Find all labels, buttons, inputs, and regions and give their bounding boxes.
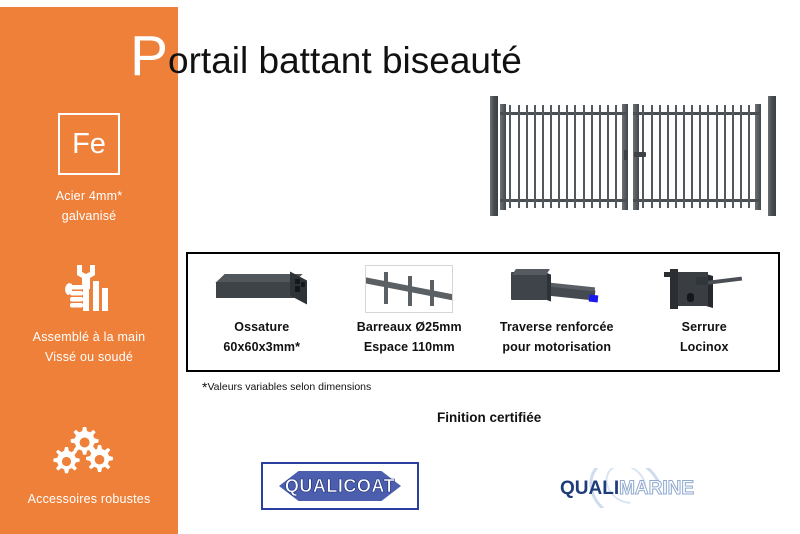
spec-ossature-line2: 60x60x3mm* (223, 340, 300, 354)
gate-leaf-right (633, 104, 761, 210)
three-gears-icon (0, 421, 178, 481)
sidebar-assembly-line1: Assemblé à la main (0, 330, 178, 344)
double-swing-gate-illustration (478, 96, 788, 216)
spec-item-traverse: Traverse renforcée pour motorisation (483, 254, 631, 370)
gate-lock-knob-icon (624, 150, 628, 160)
footnote: *Valeurs variables selon dimensions (202, 381, 371, 397)
qualimarine-text-part2: MARINE (619, 478, 694, 499)
sidebar-feature-accessories: Accessoires robustes (0, 421, 178, 506)
sidebar-material-line1: Acier 4mm* (0, 189, 178, 203)
specifications-box: Ossature 60x60x3mm* Barreaux Ø25mm Espac… (186, 252, 780, 372)
spec-item-serrure: Serrure Locinox (631, 254, 779, 370)
sidebar-material-line2: galvanisé (0, 209, 178, 223)
footnote-text: Valeurs variables selon dimensions (207, 381, 371, 393)
sidebar-feature-assembly: Assemblé à la main Vissé ou soudé (0, 259, 178, 364)
gate-post-right (768, 96, 776, 216)
qualimarine-logo-text: QUALIMARINE (560, 478, 694, 500)
qualimarine-text-part1: QUALI (560, 478, 619, 499)
spec-barreaux-line1: Barreaux Ø25mm (357, 320, 462, 334)
product-datasheet-page: Fe Acier 4mm* galvanisé (0, 0, 800, 534)
steel-profile-icon (188, 263, 336, 315)
hand-holding-wrench-icon (0, 259, 178, 319)
spec-traverse-line2: pour motorisation (502, 340, 611, 354)
spec-traverse-line1: Traverse renforcée (500, 320, 614, 334)
gate-lock-handle-icon (634, 152, 646, 157)
spec-serrure-line1: Serrure (682, 320, 727, 334)
gate-post-left (490, 96, 498, 216)
certification-heading: Finition certifiée (437, 410, 541, 425)
qualicoat-logo-text: QUALICOAT (285, 476, 395, 497)
qualimarine-logo: QUALIMARINE (560, 468, 710, 508)
footnote-asterisk: * (202, 379, 207, 395)
gate-leaf-left (500, 104, 628, 210)
sidebar-feature-material: Fe Acier 4mm* galvanisé (0, 113, 178, 223)
page-title: P ortail battant biseauté (130, 26, 522, 82)
fe-badge-label: Fe (72, 130, 106, 159)
sidebar-accessories-line1: Accessoires robustes (0, 492, 178, 506)
spec-item-barreaux: Barreaux Ø25mm Espace 110mm (336, 254, 484, 370)
spec-ossature-line1: Ossature (234, 320, 289, 334)
spec-item-ossature: Ossature 60x60x3mm* (188, 254, 336, 370)
page-title-initial: P (130, 28, 168, 84)
bars-spacing-icon (336, 263, 484, 315)
gate-bar-group (639, 112, 755, 202)
sidebar-assembly-line2: Vissé ou soudé (0, 350, 178, 364)
gate-bar-group (506, 112, 622, 202)
spec-barreaux-line2: Espace 110mm (364, 340, 455, 354)
gate-stile (755, 104, 761, 210)
page-title-rest: ortail battant biseauté (168, 38, 522, 84)
fe-element-box-icon: Fe (58, 113, 120, 175)
locinox-lock-icon (631, 263, 779, 315)
qualicoat-logo: QUALICOAT (261, 462, 419, 510)
spec-serrure-line2: Locinox (680, 340, 729, 354)
reinforced-crossbeam-icon (483, 263, 631, 315)
